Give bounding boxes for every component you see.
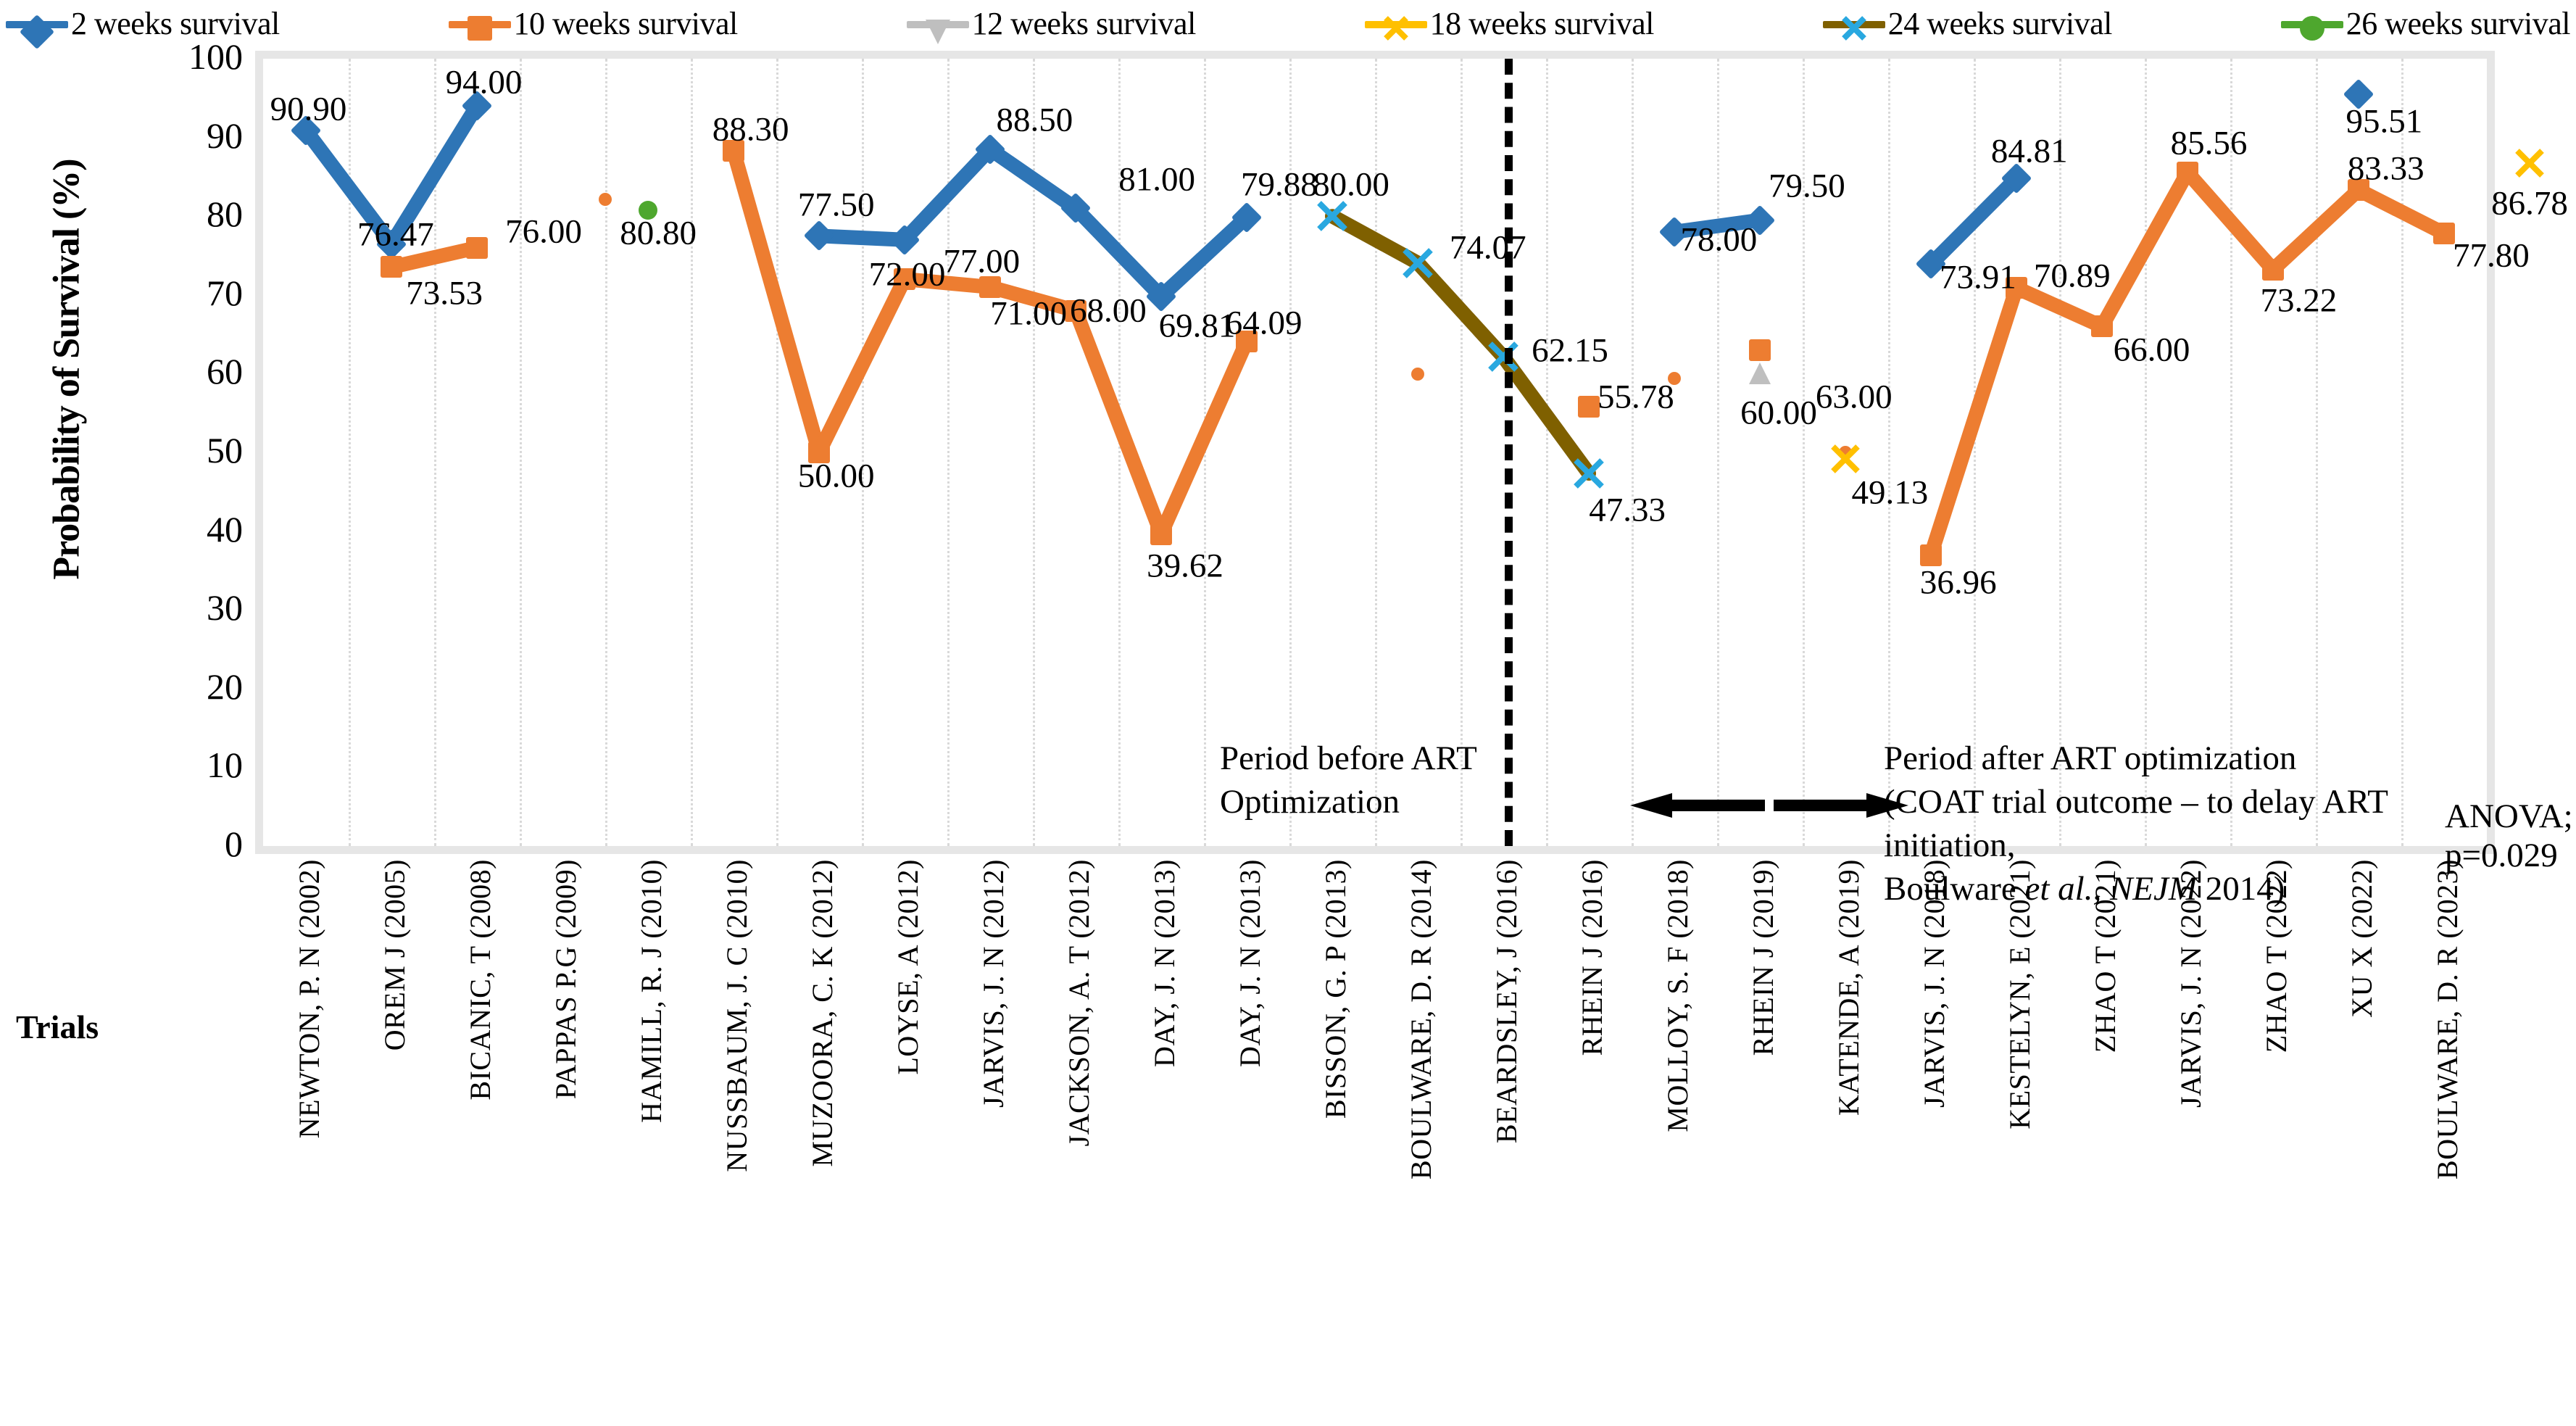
series-line-segment (1161, 341, 1247, 534)
y-axis-tick-labels: 1009080706050403020100 (91, 0, 243, 1426)
annotation-after-line1: Period after ART optimization (1884, 737, 2487, 780)
data-marker-square-icon (1749, 339, 1771, 361)
x-tick-label: KESTELYN, E (2021) (2006, 859, 2035, 1410)
data-label: 88.50 (996, 103, 1073, 137)
plot-inner: 90.9094.0076.4773.5376.0080.8088.3050.00… (263, 59, 2487, 846)
arrow-left-icon (1630, 793, 1765, 818)
y-tick-10: 10 (91, 747, 243, 783)
data-label: 83.33 (2348, 152, 2425, 186)
series-connector-dot (599, 193, 612, 206)
data-label: 50.00 (798, 459, 875, 493)
x-tick-label: JACKSON, A. T (2012) (1065, 859, 1094, 1410)
y-axis-title: Probability of Survival (%) (46, 138, 88, 602)
x-tick-label: DAY, J. N (2013) (1150, 859, 1179, 1410)
x-tick-label: PAPPAS P.G (2009) (552, 859, 581, 1410)
legend-key-3 (1365, 9, 1427, 38)
series-line-segment (2187, 173, 2273, 270)
data-label: 39.62 (1147, 550, 1223, 584)
x-tick-label: ZHAO T (2022) (2262, 859, 2291, 1410)
data-label: 55.78 (1597, 380, 1674, 414)
data-label: 80.00 (1313, 167, 1389, 202)
plot-area: 90.9094.0076.4773.5376.0080.8088.3050.00… (255, 51, 2495, 854)
legend-item-10-weeks[interactable]: 10 weeks survival (449, 8, 738, 40)
annotation-after-line3: Boulware et al., NEJM 2014) (1884, 867, 2487, 911)
y-tick-0: 0 (91, 826, 243, 862)
data-marker-x-cyan-icon (1574, 458, 1604, 489)
legend-key-0 (6, 9, 68, 38)
x-tick-label: OREM J (2005) (381, 859, 410, 1410)
legend-item-12-weeks[interactable]: 12 weeks survival (907, 8, 1196, 40)
legend-marker-x-cyan-icon (1842, 16, 1866, 41)
legend-marker-triangle-icon (926, 20, 950, 44)
series-line-segment (1076, 208, 1161, 297)
annotation-after-line2: (COAT trial outcome – to delay ART initi… (1884, 780, 2487, 867)
x-tick-label: JARVIS, J. N (2012) (979, 859, 1008, 1410)
data-marker-square-icon (466, 237, 488, 259)
x-tick-label: LOYSE, A (2012) (894, 859, 923, 1410)
series-line-segment (905, 149, 990, 240)
data-label: 76.00 (505, 215, 582, 249)
data-marker-square-icon (1150, 523, 1172, 545)
data-marker-square-icon (2433, 223, 2455, 244)
x-tick-label: KATENDE, A (2019) (1835, 859, 1864, 1410)
data-marker-square-icon (1578, 396, 1600, 418)
series-line-segment (2273, 190, 2359, 270)
y-tick-100: 100 (91, 38, 243, 75)
data-label: 74.07 (1450, 231, 1526, 265)
data-label: 36.96 (1920, 566, 1997, 600)
data-label: 77.80 (2453, 239, 2530, 273)
x-tick-label: BEARDSLEY, J (2016) (1492, 859, 1521, 1410)
legend-marker-x-icon (1384, 16, 1408, 41)
data-label: 88.30 (712, 112, 789, 146)
data-marker-square-icon (1920, 544, 1942, 566)
x-tick-label: NUSSBAUM, J. C (2010) (723, 859, 752, 1410)
y-tick-50: 50 (91, 432, 243, 468)
y-tick-90: 90 (91, 117, 243, 154)
data-label: 94.00 (446, 65, 523, 99)
data-label: 68.00 (1070, 294, 1147, 328)
data-marker-triangle-icon (1749, 362, 1771, 384)
annotation-after-art: Period after ART optimization (COAT tria… (1884, 737, 2487, 911)
data-label: 71.00 (990, 297, 1067, 331)
x-tick-label: BICANIC, T (2008) (466, 859, 495, 1410)
data-label: 64.09 (1226, 306, 1302, 340)
legend-marker-diamond-icon (20, 14, 54, 49)
x-axis-title: Trials (16, 1008, 99, 1046)
data-label: 73.91 (1940, 260, 2016, 294)
x-tick-label: BOULWARE, D. R (2014) (1407, 859, 1436, 1410)
data-label: 76.47 (357, 218, 434, 252)
legend-key-2 (907, 9, 969, 38)
x-tick-label: JARVIS, J. N (2022) (2177, 859, 2206, 1410)
data-label: 81.00 (1118, 163, 1195, 197)
legend-label: 18 weeks survival (1430, 8, 1654, 40)
data-label: 66.00 (2114, 333, 2190, 367)
data-label: 60.00 (1740, 396, 1817, 430)
series-line-segment (1161, 217, 1247, 297)
data-marker-square-icon (381, 256, 402, 278)
data-label: 73.22 (2261, 284, 2338, 318)
anova-annotation: ANOVA; p=0.029 (2445, 797, 2573, 875)
series-line-segment (819, 279, 905, 452)
x-tick-label: RHEIN J (2019) (1749, 859, 1778, 1410)
y-tick-20: 20 (91, 668, 243, 705)
data-label: 62.15 (1532, 333, 1608, 368)
data-label: 77.50 (798, 188, 875, 222)
annotation-year: 2014) (2197, 870, 2285, 908)
data-marker-x-icon (1831, 444, 1860, 473)
annotation-etal-nejm: et al., NEJM (2024, 870, 2197, 908)
legend-marker-square-icon (468, 16, 492, 41)
series-line-segment (1931, 288, 2016, 555)
data-marker-x-cyan-icon (1403, 248, 1433, 278)
data-marker-square-icon (2177, 162, 2198, 183)
legend-item-26-weeks[interactable]: 26 weeks survival (2281, 8, 2570, 40)
legend-key-5 (2281, 9, 2343, 38)
x-axis-tick-labels: NEWTON, P. N (2002)OREM J (2005)BICANIC,… (255, 859, 2495, 1425)
legend-item-18-weeks[interactable]: 18 weeks survival (1365, 8, 1654, 40)
series-line-segment (1931, 178, 2016, 264)
y-tick-40: 40 (91, 511, 243, 547)
data-marker-x-icon (2515, 149, 2544, 178)
legend-key-4 (1823, 9, 1885, 38)
annotation-boulware: Boulware (1884, 870, 2024, 908)
series-connector-dot (1411, 368, 1424, 381)
legend-key-1 (449, 9, 511, 38)
series-line-segment (1076, 311, 1161, 534)
data-label: 63.00 (1816, 380, 1892, 414)
series-line-segment (1503, 357, 1589, 473)
data-label: 80.80 (620, 217, 697, 251)
x-tick-label: MUZOORA, C. K (2012) (808, 859, 837, 1410)
annotation-before-art: Period before ART Optimization (1220, 737, 1477, 824)
series-line-segment (990, 149, 1076, 208)
data-marker-x-cyan-icon (1317, 201, 1347, 231)
x-tick-label: XU X (2022) (2348, 859, 2377, 1410)
x-tick-label: BOULWARE, D. R (2023) (2433, 859, 2462, 1410)
data-label: 70.89 (2034, 259, 2111, 293)
arrow-right-icon (1774, 793, 1908, 818)
annotation-before-line2: Optimization (1220, 780, 1477, 824)
data-label: 79.88 (1241, 167, 1318, 202)
data-marker-square-icon (2091, 315, 2113, 337)
data-marker-x-cyan-icon (1488, 341, 1518, 372)
legend-label: 24 weeks survival (1888, 8, 2112, 40)
y-tick-80: 80 (91, 196, 243, 232)
data-label: 49.13 (1851, 476, 1928, 510)
x-tick-label: DAY, J. N (2013) (1236, 859, 1265, 1410)
legend-label: 12 weeks survival (972, 8, 1196, 40)
data-label: 78.00 (1680, 223, 1757, 257)
x-tick-label: HAMILL, R. J (2010) (637, 859, 666, 1410)
data-label: 84.81 (1991, 135, 2068, 169)
data-label: 73.53 (406, 276, 483, 310)
data-marker-square-icon (2262, 259, 2284, 281)
y-tick-70: 70 (91, 275, 243, 311)
data-label: 69.81 (1159, 310, 1236, 344)
data-label: 85.56 (2171, 127, 2248, 161)
data-label: 77.00 (943, 245, 1020, 279)
data-label: 95.51 (2346, 104, 2423, 138)
x-tick-label: RHEIN J (2016) (1578, 859, 1607, 1410)
x-tick-label: NEWTON, P. N (2002) (295, 859, 324, 1410)
legend-item-24-weeks[interactable]: 24 weeks survival (1823, 8, 2112, 40)
data-label: 79.50 (1769, 169, 1845, 203)
y-tick-30: 30 (91, 589, 243, 626)
x-tick-label: ZHAO T (2021) (2091, 859, 2120, 1410)
x-tick-label: MOLLOY, S. F (2018) (1663, 859, 1692, 1410)
data-label: 72.00 (869, 257, 946, 291)
chart-legend: 2 weeks survival10 weeks survival12 week… (0, 0, 2576, 48)
legend-label: 10 weeks survival (514, 8, 738, 40)
period-divider-line (1505, 59, 1513, 846)
series-line-segment (2102, 173, 2187, 326)
annotation-before-line1: Period before ART (1220, 737, 1477, 780)
series-line-segment (2359, 190, 2444, 233)
x-tick-label: JARVIS, J. N (2018) (1920, 859, 1949, 1410)
legend-label: 26 weeks survival (2346, 8, 2570, 40)
data-label: 47.33 (1589, 494, 1666, 528)
data-label: 90.90 (270, 92, 347, 126)
x-tick-label: BISSON, G. P (2013) (1321, 859, 1350, 1410)
legend-marker-dot-icon (2300, 16, 2324, 41)
data-label: 86.78 (2491, 186, 2568, 220)
y-tick-60: 60 (91, 353, 243, 389)
